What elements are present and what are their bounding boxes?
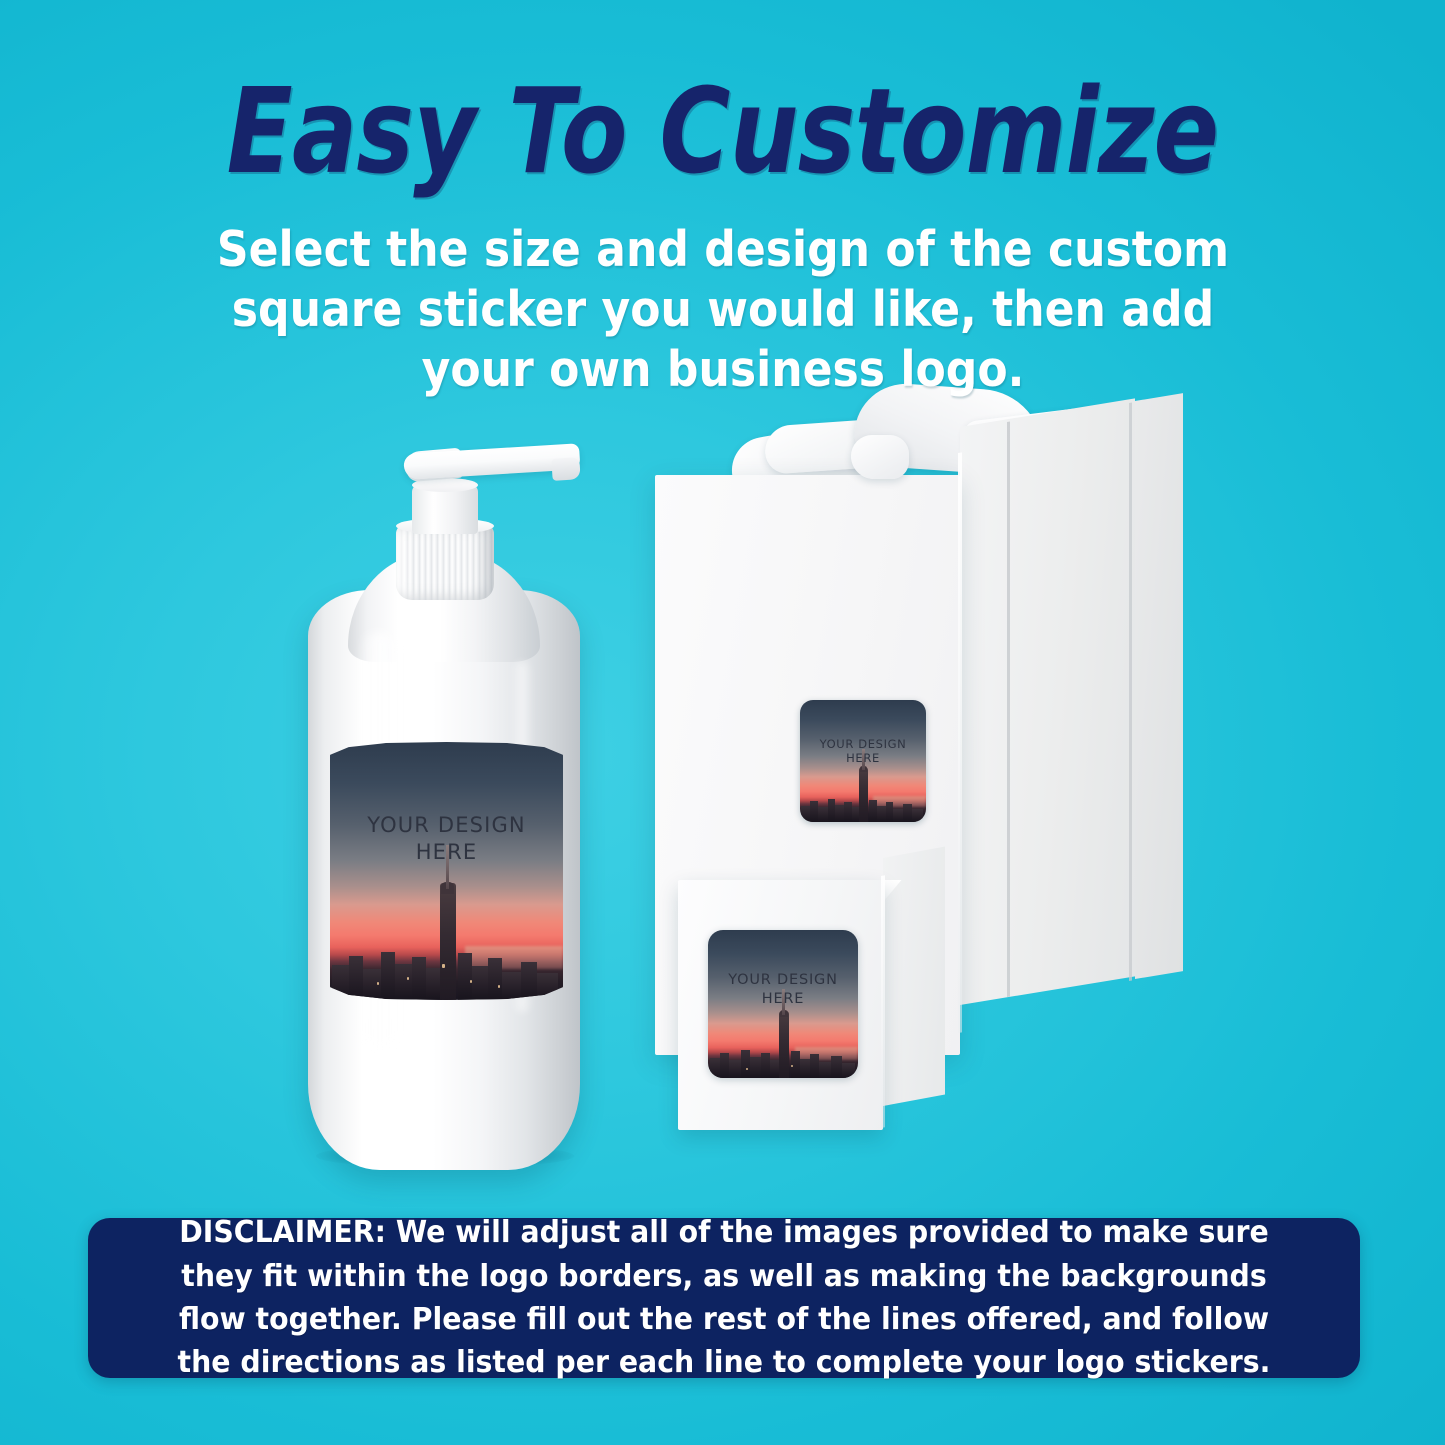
page-subtitle: Select the size and design of the custom… bbox=[169, 220, 1276, 399]
sticker-text-line2: HERE bbox=[330, 839, 563, 866]
sticker-artwork bbox=[330, 742, 563, 1000]
sticker-on-gift-box[interactable]: YOUR DESIGN HERE bbox=[800, 700, 926, 822]
city-skyline bbox=[330, 933, 563, 1000]
empire-state-building bbox=[440, 883, 456, 1000]
gift-box-seam bbox=[1007, 422, 1010, 997]
sticker-text-line1: YOUR DESIGN bbox=[708, 971, 858, 990]
sticker-on-small-box[interactable]: YOUR DESIGN HERE bbox=[708, 930, 858, 1078]
sticker-text-line1: YOUR DESIGN bbox=[330, 812, 563, 839]
pump-collar-ribbed bbox=[396, 524, 494, 600]
sticker-on-bottle[interactable]: YOUR DESIGN HERE bbox=[330, 742, 563, 1000]
gift-box-seam-outer bbox=[1129, 403, 1132, 981]
page-title: Easy To Customize bbox=[130, 72, 1315, 190]
bow-knot bbox=[851, 435, 909, 479]
pump-bottle: YOUR DESIGN HERE bbox=[300, 432, 600, 1172]
small-box: YOUR DESIGN HERE bbox=[678, 862, 950, 1152]
empire-state-building bbox=[779, 1011, 790, 1078]
sticker-text-line2: HERE bbox=[800, 751, 926, 766]
disclaimer-text: DISCLAIMER: We will adjust all of the im… bbox=[166, 1211, 1282, 1384]
header-section: Easy To Customize Select the size and de… bbox=[0, 0, 1445, 380]
disclaimer-label: DISCLAIMER: bbox=[179, 1215, 386, 1250]
empire-state-building bbox=[859, 767, 868, 823]
sticker-text-line1: YOUR DESIGN bbox=[800, 737, 926, 752]
small-box-edge-highlight bbox=[881, 875, 885, 1128]
disclaimer-banner: DISCLAIMER: We will adjust all of the im… bbox=[88, 1218, 1360, 1378]
gift-box-edge-highlight bbox=[958, 452, 962, 1033]
gift-box-side-panel bbox=[960, 398, 1135, 1005]
gift-box-back-panel bbox=[1135, 393, 1183, 979]
city-skyline bbox=[800, 790, 926, 822]
city-skyline bbox=[708, 1040, 858, 1078]
pump-nozzle-tip bbox=[551, 457, 580, 481]
sticker-text-line2: HERE bbox=[708, 990, 858, 1009]
